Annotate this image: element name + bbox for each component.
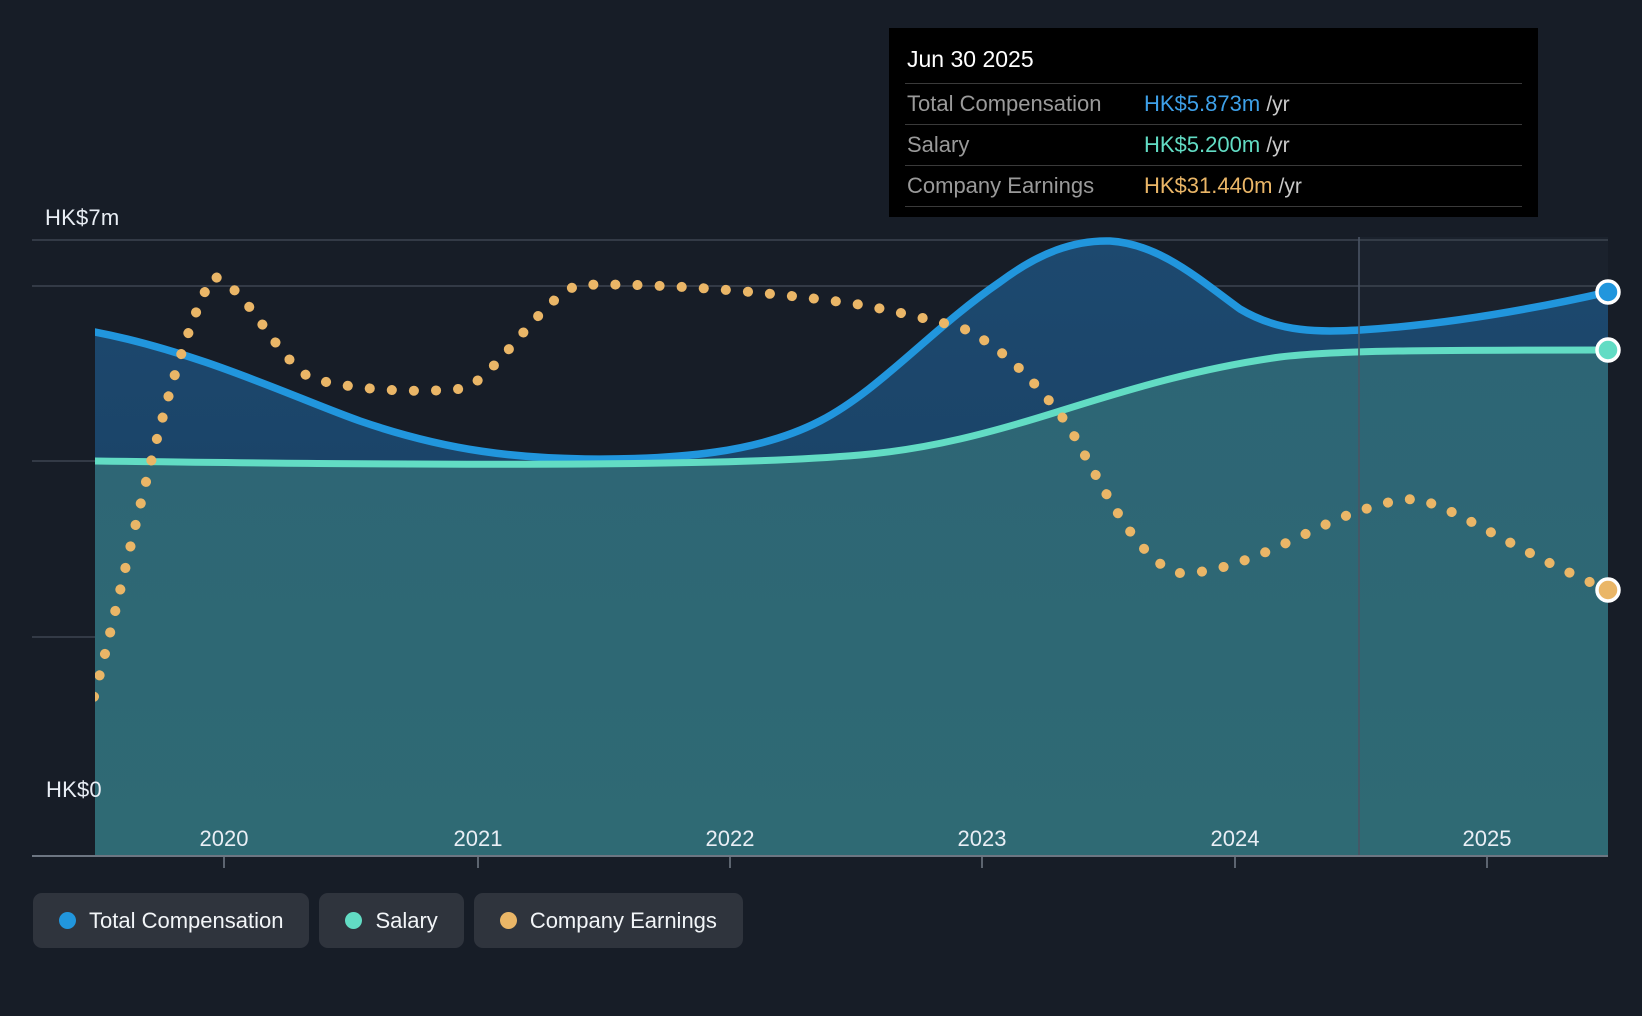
x-axis-label-2022: 2022 <box>706 826 755 852</box>
chart-tooltip: Jun 30 2025 Total Compensation HK$5.873m… <box>889 28 1538 217</box>
tooltip-date: Jun 30 2025 <box>907 46 1522 73</box>
legend-label-company-earnings: Company Earnings <box>530 908 717 934</box>
x-axis-label-2021: 2021 <box>454 826 503 852</box>
legend-label-salary: Salary <box>375 908 437 934</box>
legend-item-total-compensation[interactable]: Total Compensation <box>33 893 309 948</box>
tooltip-label-salary: Salary <box>905 125 1142 166</box>
x-axis-label-2024: 2024 <box>1211 826 1260 852</box>
legend-label-total-compensation: Total Compensation <box>89 908 283 934</box>
y-axis-label-top: HK$7m <box>45 205 119 231</box>
tooltip-label-company-earnings: Company Earnings <box>905 166 1142 207</box>
legend-dot-total-compensation-icon <box>59 912 76 929</box>
tooltip-value-cell-company-earnings: HK$31.440m /yr <box>1142 166 1522 207</box>
legend-dot-company-earnings-icon <box>500 912 517 929</box>
endpoint-company-earnings <box>1597 579 1619 601</box>
tooltip-value-cell-total-compensation: HK$5.873m /yr <box>1142 84 1522 125</box>
legend-dot-salary-icon <box>345 912 362 929</box>
y-axis-label-bottom: HK$0 <box>46 777 102 803</box>
tooltip-row-salary: Salary HK$5.200m /yr <box>905 125 1522 166</box>
tooltip-value-salary: HK$5.200m <box>1144 132 1260 157</box>
tooltip-label-total-compensation: Total Compensation <box>905 84 1142 125</box>
tooltip-row-company-earnings: Company Earnings HK$31.440m /yr <box>905 166 1522 207</box>
chart-canvas: HK$7m HK$0 2020 2021 2022 2023 2024 2025… <box>0 0 1642 1016</box>
x-axis-label-2025: 2025 <box>1463 826 1512 852</box>
endpoint-salary <box>1597 339 1619 361</box>
tooltip-value-total-compensation: HK$5.873m <box>1144 91 1260 116</box>
tooltip-unit-company-earnings: /yr <box>1279 175 1302 198</box>
endpoint-total-compensation <box>1597 281 1619 303</box>
legend-item-salary[interactable]: Salary <box>319 893 463 948</box>
legend-item-company-earnings[interactable]: Company Earnings <box>474 893 743 948</box>
tooltip-unit-total-compensation: /yr <box>1266 93 1289 116</box>
x-axis-ticks <box>224 856 1487 868</box>
chart-legend: Total Compensation Salary Company Earnin… <box>33 893 743 948</box>
tooltip-table: Total Compensation HK$5.873m /yr Salary … <box>905 83 1522 207</box>
tooltip-row-total-compensation: Total Compensation HK$5.873m /yr <box>905 84 1522 125</box>
tooltip-value-cell-salary: HK$5.200m /yr <box>1142 125 1522 166</box>
x-axis-label-2020: 2020 <box>200 826 249 852</box>
tooltip-unit-salary: /yr <box>1266 134 1289 157</box>
tooltip-value-company-earnings: HK$31.440m <box>1144 173 1272 198</box>
x-axis-label-2023: 2023 <box>958 826 1007 852</box>
